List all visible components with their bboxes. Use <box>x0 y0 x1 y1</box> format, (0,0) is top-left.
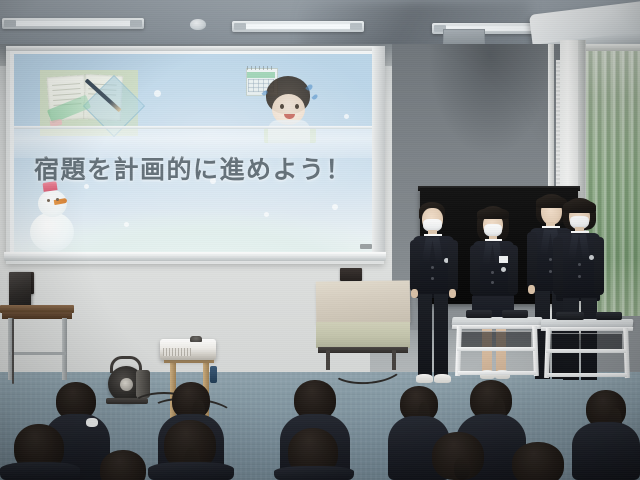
snowman-body <box>30 212 74 252</box>
presenter-1-leg <box>418 294 432 378</box>
presenter-1-hand <box>449 289 456 298</box>
presenter-2-arm <box>470 245 480 295</box>
audience-head <box>100 450 146 480</box>
desk-right-edge <box>541 327 633 331</box>
cable-reel-hub <box>120 378 133 391</box>
presenter-2-badge <box>501 267 506 272</box>
presenter-1-hand <box>411 289 418 298</box>
presenter-2-button <box>491 271 494 274</box>
whiteboard-marker-tray <box>4 252 386 261</box>
child-eye-right <box>295 104 299 109</box>
presenter-4-bangs <box>563 200 596 213</box>
desk-right-item <box>556 312 584 320</box>
snow-dot <box>344 114 349 119</box>
presenter-1-button <box>431 277 434 280</box>
snow-dot <box>154 90 161 97</box>
presenter-4-arm <box>553 237 563 295</box>
presenter-3-button <box>549 270 552 273</box>
fluorescent-light-icon <box>232 21 364 32</box>
snow-dot <box>124 222 129 227</box>
presenter-1-arm <box>448 240 458 292</box>
desk-left-item <box>466 310 492 318</box>
presenter-3-arm <box>527 232 537 288</box>
projected-slide: 宿題を計画的に進めよう！ <box>14 54 372 252</box>
desk-right-footrail <box>547 373 627 377</box>
speaker-cable <box>12 318 14 384</box>
presenter-4-button <box>578 275 581 278</box>
blind-rail <box>584 44 640 51</box>
snowman-eye-left <box>47 199 50 202</box>
calendar-spiral <box>247 66 275 70</box>
presenter-4-button <box>578 263 581 266</box>
audio-speaker <box>9 272 31 308</box>
folded-table-lower-panel <box>316 322 410 348</box>
whiteboard-top-frame <box>6 46 384 51</box>
presenter-2-arm <box>508 245 518 295</box>
desk-right-item <box>596 312 622 320</box>
presenter-1-arm <box>410 240 420 292</box>
audience-body <box>0 462 80 480</box>
folded-table-top <box>316 280 411 323</box>
wall-mount-box <box>340 268 362 281</box>
presenter-1-shoe <box>434 374 451 383</box>
ceiling-air-vent <box>443 29 485 45</box>
desk-left-item <box>502 310 528 318</box>
presenter-1-shoe <box>416 374 433 383</box>
projector-vents <box>163 348 191 356</box>
snow-dot <box>264 212 269 217</box>
fluorescent-light-icon <box>2 18 144 29</box>
desk-left-footrail <box>458 371 536 375</box>
desk-left-edge <box>452 325 542 329</box>
presenter-2-button <box>491 281 494 284</box>
desk-left-rail <box>457 347 535 351</box>
child-eye-left <box>280 104 284 109</box>
presenter-3-button <box>549 258 552 261</box>
classroom-presentation-photo: 宿題を計画的に進めよう！ <box>0 0 640 480</box>
projector-lens-icon <box>190 336 202 342</box>
whiteboard-seam <box>14 126 372 129</box>
audience-face-mask <box>86 418 98 427</box>
whiteboard-right-post <box>372 46 385 260</box>
wall-shadow <box>430 44 550 154</box>
audience-head <box>512 442 564 480</box>
side-table-leg <box>62 318 67 380</box>
audience-body <box>274 466 354 480</box>
screen-glare-band <box>14 126 372 158</box>
presenter-2-bangs <box>477 208 509 219</box>
ceiling-speaker-icon <box>190 19 206 30</box>
calendar-header <box>247 72 275 78</box>
audience-body <box>148 462 234 480</box>
presenter-1-leg <box>434 294 448 378</box>
audience-ponytail <box>454 458 470 480</box>
presenter-4-arm <box>594 237 604 295</box>
desk-right-leg <box>623 328 630 378</box>
snowman-eye-right <box>56 198 59 201</box>
whiteboard-tray-clip <box>360 244 372 249</box>
presenter-3-hand <box>528 285 535 294</box>
projector-power-adapter <box>210 366 217 383</box>
audience-body <box>572 422 640 480</box>
snow-dot <box>332 204 338 210</box>
presenter-1-button <box>431 266 434 269</box>
side-table-rail <box>9 352 66 355</box>
desk-right-rail <box>546 349 626 353</box>
